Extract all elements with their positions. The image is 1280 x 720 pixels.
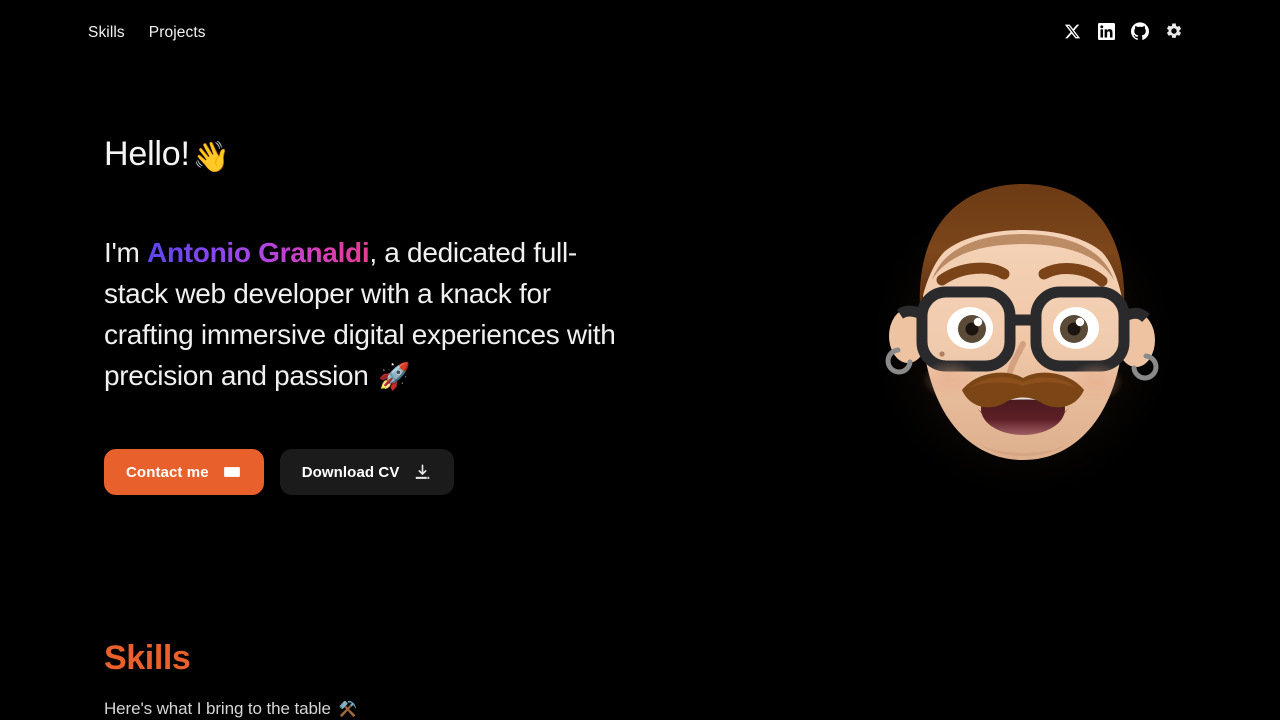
download-cv-button[interactable]: Download CV — [280, 449, 455, 495]
download-icon — [413, 463, 432, 482]
download-cv-label: Download CV — [302, 464, 400, 481]
developer-name: Antonio Granaldi — [147, 237, 369, 268]
skills-section: Skills Here's what I bring to the table … — [104, 640, 804, 719]
hero-text-block: Hello!👋 I'm Antonio Granaldi, a dedicate… — [104, 134, 724, 495]
waving-hand-emoji: 👋 — [193, 141, 230, 174]
hero-greeting-text: Hello! — [104, 135, 190, 173]
contact-me-label: Contact me — [126, 464, 209, 481]
hammer-and-pick-emoji: ⚒️ — [338, 701, 357, 718]
contact-me-button[interactable]: Contact me — [104, 449, 264, 495]
intro-prefix: I'm — [104, 237, 147, 268]
skills-heading: Skills — [104, 640, 804, 677]
envelope-icon — [223, 463, 242, 482]
hero-button-row: Contact me Download CV — [104, 449, 724, 495]
hero-section: Hello!👋 I'm Antonio Granaldi, a dedicate… — [0, 0, 1280, 600]
hero-intro-paragraph: I'm Antonio Granaldi, a dedicated full-s… — [104, 232, 624, 397]
memoji-avatar-illustration — [880, 168, 1165, 498]
avatar — [880, 168, 1165, 498]
skills-subtitle-text: Here's what I bring to the table — [104, 699, 335, 718]
skills-subtitle: Here's what I bring to the table ⚒️ — [104, 699, 804, 719]
hero-greeting: Hello!👋 — [104, 134, 724, 176]
rocket-emoji: 🚀 — [378, 361, 410, 391]
